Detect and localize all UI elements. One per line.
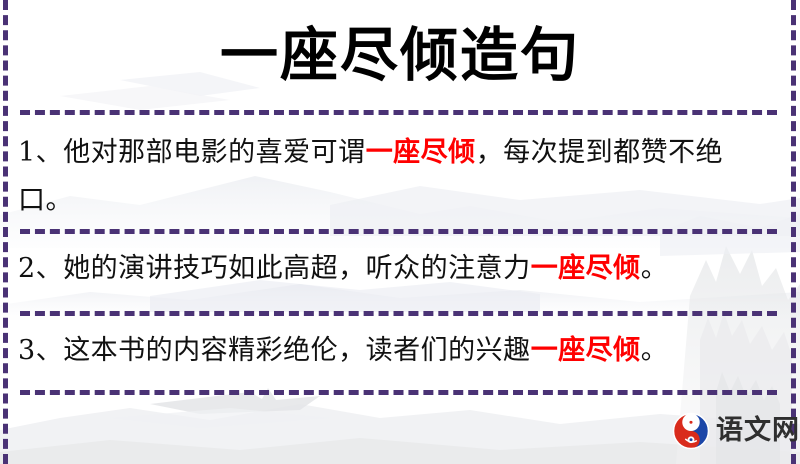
sentence-2-keyword: 一座尽倾 — [531, 253, 641, 284]
sentence-3-number: 3、 — [18, 335, 63, 366]
watermark-text: 语文网 — [716, 416, 800, 446]
page-title: 一座尽倾造句 — [0, 22, 800, 88]
sentence-1-number: 1、 — [18, 137, 63, 168]
sentence-2-text-after: 。 — [641, 253, 669, 284]
sentence-3-text-before: 这本书的内容精彩绝伦，读者们的兴趣 — [63, 335, 531, 366]
slide-canvas: 一座尽倾造句 1、他对那部电影的喜爱可谓一座尽倾，每次提到都赞不绝口。 2、她的… — [0, 0, 800, 464]
sentence-3-keyword: 一座尽倾 — [531, 335, 641, 366]
yinyang-circle-logo-icon — [672, 412, 710, 450]
dashed-separator-1 — [20, 229, 777, 234]
sentence-2-number: 2、 — [18, 253, 63, 284]
sentence-2-text-before: 她的演讲技巧如此高超，听众的注意力 — [63, 253, 531, 284]
dashed-separator-2 — [20, 311, 777, 316]
example-sentence-1: 1、他对那部电影的喜爱可谓一座尽倾，每次提到都赞不绝口。 — [18, 129, 766, 225]
sentence-3-text-after: 。 — [641, 335, 669, 366]
sentence-1-text-before: 他对那部电影的喜爱可谓 — [63, 137, 366, 168]
site-watermark: 语文网 — [672, 412, 800, 450]
example-sentence-3: 3、这本书的内容精彩绝伦，读者们的兴趣一座尽倾。 — [18, 327, 766, 375]
dashed-separator-below-title — [20, 110, 777, 115]
example-sentence-2: 2、她的演讲技巧如此高超，听众的注意力一座尽倾。 — [18, 245, 766, 293]
sentence-1-keyword: 一座尽倾 — [366, 137, 476, 168]
dashed-separator-3 — [20, 390, 777, 395]
